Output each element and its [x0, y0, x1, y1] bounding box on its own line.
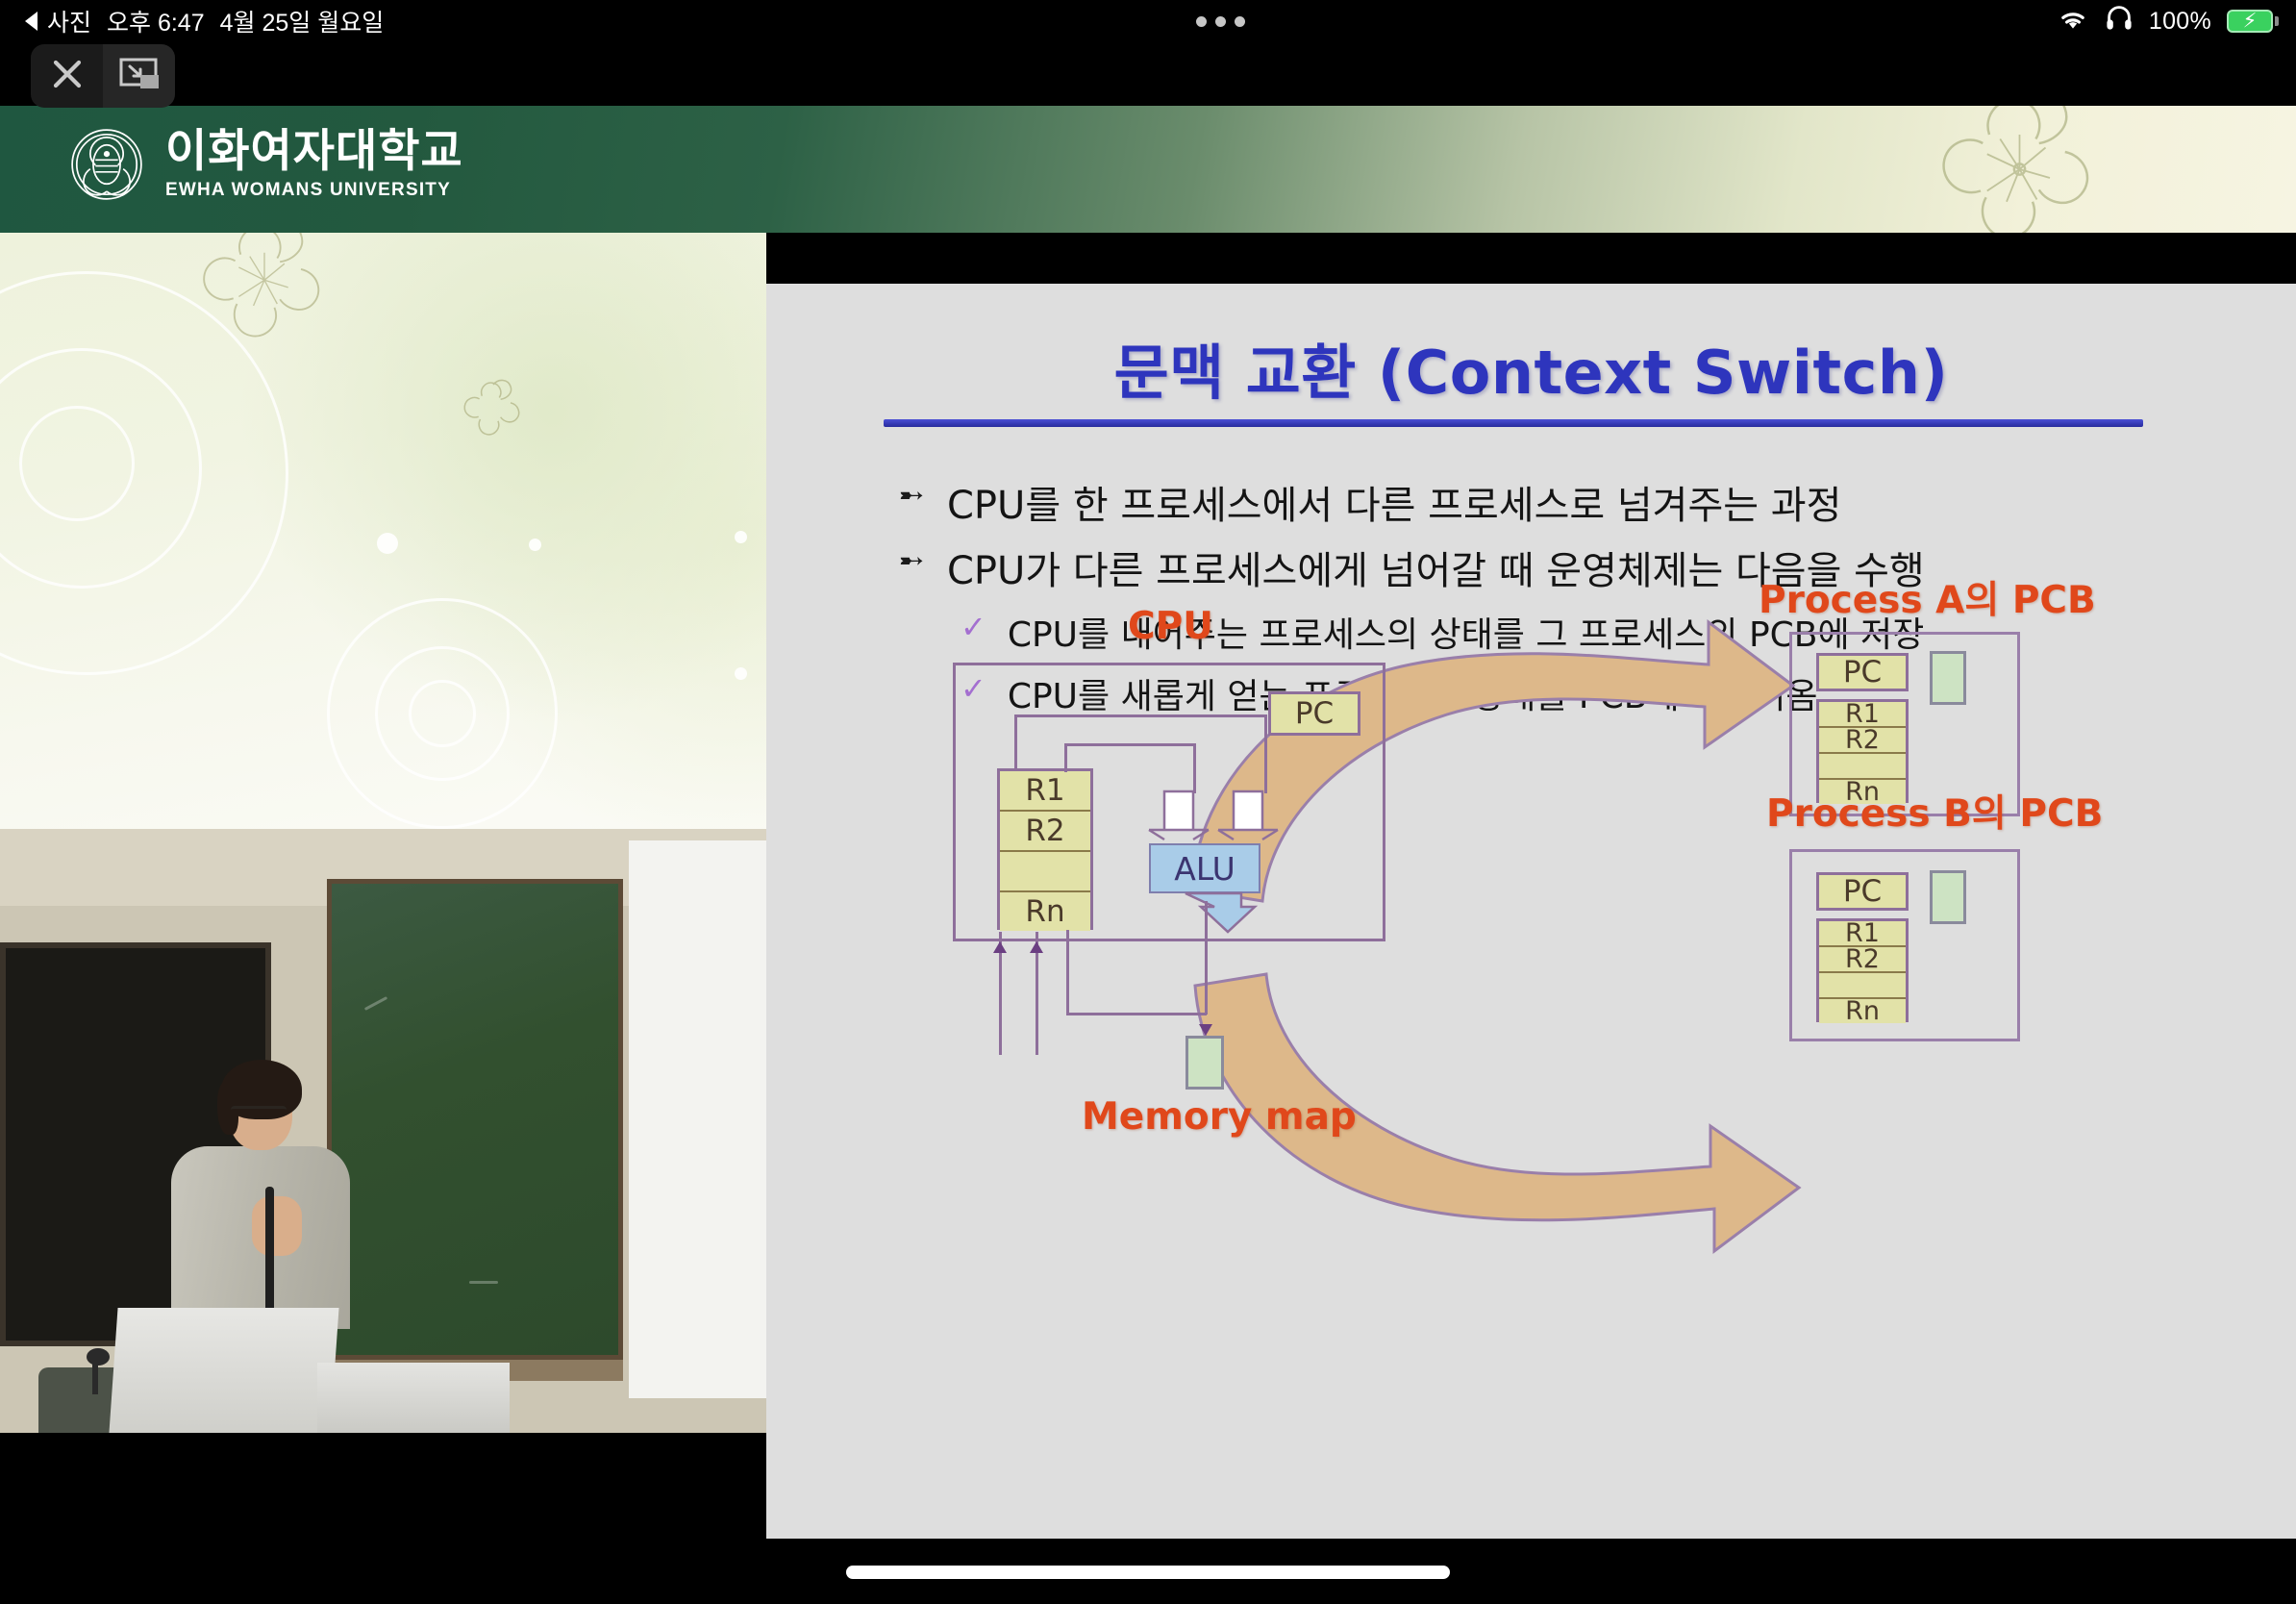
dot-icon [1215, 16, 1226, 27]
pcb-b-title: Process B의 PCB [1766, 784, 2103, 838]
battery-percent: 100% [2149, 8, 2211, 36]
podium [109, 1308, 338, 1433]
left-pane [0, 233, 766, 1433]
alu-funnels [1132, 784, 1295, 938]
wifi-icon [2057, 6, 2089, 38]
window-controls [31, 44, 175, 108]
pcb-b-register-bank: R1 R2 Rn [1816, 918, 1909, 1022]
lecturer-arm [252, 1196, 302, 1256]
wire [1014, 714, 1266, 717]
video-content-area: 이화여자대학교 EWHA WOMANS UNIVERSITY [0, 106, 2296, 1433]
tablet-screen: 사진 오후 6:47 4월 25일 월요일 [0, 0, 2296, 1604]
bokeh-dot [529, 539, 541, 551]
arrow-bullet-icon: ➸ [899, 474, 924, 517]
context-switch-diagram: CPU PC R1 R2 Rn ALU [766, 601, 2296, 1351]
chalkboard [327, 879, 623, 1360]
register-cell: R2 [1000, 812, 1090, 852]
ewha-seal-icon [69, 127, 144, 202]
flower-outline-icon [450, 367, 537, 454]
wire [1014, 714, 1017, 770]
university-logo: 이화여자대학교 EWHA WOMANS UNIVERSITY [69, 127, 463, 202]
home-indicator[interactable] [846, 1566, 1450, 1579]
battery-icon: ⚡ [2227, 10, 2273, 33]
status-bar: 사진 오후 6:47 4월 25일 월요일 [0, 0, 2296, 42]
university-header: 이화여자대학교 EWHA WOMANS UNIVERSITY [0, 106, 2296, 233]
lecture-video[interactable] [0, 829, 766, 1433]
arrow-bullet-icon: ➸ [899, 539, 924, 583]
wire [1064, 743, 1195, 746]
headphones-icon [2105, 4, 2134, 39]
pcb-a-title: Process A의 PCB [1759, 570, 2096, 624]
status-bar-right: 100% ⚡ [2057, 4, 2296, 39]
register-cell: R1 [1819, 921, 1906, 947]
pcb-b-pc: PC [1816, 872, 1909, 911]
cpu-label: CPU [1128, 605, 1213, 648]
register-cell: Rn [1819, 999, 1906, 1023]
bokeh-dot [735, 531, 747, 543]
status-bar-left: 사진 오후 6:47 4월 25일 월요일 [0, 4, 384, 38]
slide-title: 문맥 교환 (Context Switch) [766, 324, 2296, 411]
memory-map-box [1185, 1036, 1224, 1090]
register-cell: R2 [1819, 947, 1906, 973]
wire-arrowheads [986, 920, 1245, 1055]
register-cell: R2 [1819, 728, 1906, 754]
ring-decoration [409, 680, 476, 747]
university-name-ko: 이화여자대학교 [165, 128, 463, 175]
wire [1193, 743, 1196, 793]
stand-microphone-head [87, 1348, 110, 1366]
pcb-b-memory-map [1930, 870, 1966, 924]
bokeh-dot [377, 533, 398, 554]
back-arrow-icon[interactable] [25, 12, 37, 31]
close-icon [48, 55, 87, 98]
dot-icon [1235, 16, 1245, 27]
register-cell: R1 [1000, 771, 1090, 812]
register-cell [1000, 852, 1090, 892]
chalk-mark [469, 1281, 498, 1284]
dynamic-island-dots [384, 16, 2057, 27]
bokeh-dot [735, 667, 747, 680]
close-button[interactable] [31, 44, 103, 108]
picture-in-picture-icon [117, 56, 162, 97]
register-cell [1819, 973, 1906, 999]
flower-outline-icon [173, 233, 356, 377]
register-cell [1819, 754, 1906, 780]
podium-secondary [317, 1363, 510, 1433]
cpu-pc-register: PC [1268, 691, 1360, 736]
pcb-a-memory-map [1930, 651, 1966, 705]
back-app-label[interactable]: 사진 [47, 4, 91, 38]
title-divider [884, 419, 2143, 427]
decorative-background [0, 233, 766, 829]
status-date: 4월 25일 월요일 [220, 4, 385, 38]
register-cell: R1 [1819, 702, 1906, 728]
lecturer-glasses [231, 1106, 287, 1115]
wire [1264, 714, 1267, 793]
bullet-text: CPU를 한 프로세스에서 다른 프로세스로 넘겨주는 과정 [947, 474, 1841, 530]
status-time: 오후 6:47 [107, 4, 205, 38]
bullet-item: ➸ CPU를 한 프로세스에서 다른 프로세스로 넘겨주는 과정 [899, 474, 2264, 530]
projector-screen [629, 840, 766, 1398]
pcb-a-pc: PC [1816, 653, 1909, 691]
flower-outline-icon [1911, 106, 2128, 233]
memory-map-label: Memory map [1082, 1095, 1357, 1139]
ring-decoration [19, 406, 135, 521]
dot-icon [1196, 16, 1207, 27]
presentation-slide[interactable]: 문맥 교환 (Context Switch) ➸ CPU를 한 프로세스에서 다… [766, 284, 2296, 1539]
university-name-en: EWHA WOMANS UNIVERSITY [165, 180, 463, 201]
cpu-register-bank: R1 R2 Rn [997, 768, 1093, 930]
picture-in-picture-button[interactable] [103, 44, 175, 108]
wire [1064, 743, 1067, 772]
